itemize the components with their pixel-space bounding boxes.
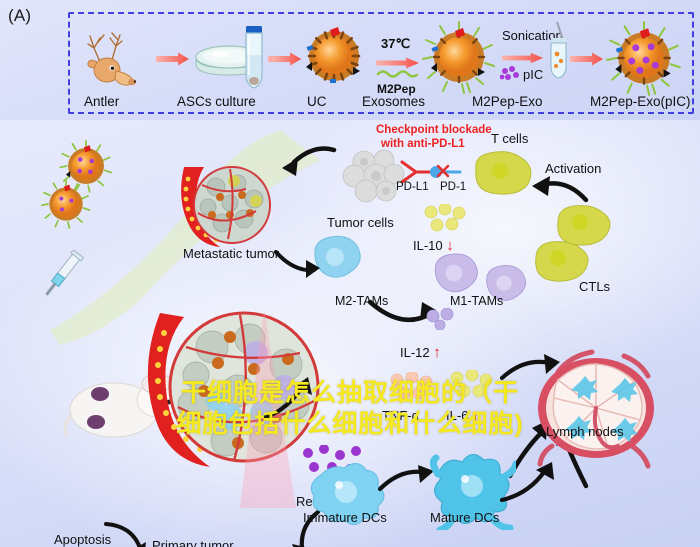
mature-dcs-label: Mature DCs [430,511,499,525]
tumor-cells-label: Tumor cells [327,216,394,230]
panel-a-letter: (A) [8,6,31,26]
m1-tams-label: M1-TAMs [450,295,503,309]
process-arrow-icon [570,52,604,66]
metastatic-tumor-label: Metastatic tumor [183,247,279,261]
step-label-ascs-culture: ASCs culture [177,95,256,110]
curved-arrow-icon [274,248,322,282]
panel-b: Metastatic tumor Tumor cells Checkpoint … [0,120,700,547]
cytokine-dots-icon [421,204,469,238]
step-label-uc: UC [307,95,327,110]
exosome-pic-icon [604,18,684,98]
step-label-antler: Antler [84,95,119,110]
process-arrow-icon [272,52,302,66]
pic-label: pIC [523,68,543,82]
curved-arrow-icon [276,142,338,182]
exosome-icon [300,22,368,90]
process-arrow-icon [502,52,544,64]
panel-a: 37℃ M2Pep Sonication [0,0,700,120]
pic-molecule-icon [500,66,520,82]
il-6-label: IL-6 [446,408,468,423]
il-12-group: IL-12 ↑ [400,345,441,362]
il-6-group: IL-6 ↑ [446,408,480,425]
process-arrow-icon [156,52,190,66]
exosome-pic-icon [40,178,92,230]
step-label-m2pep-exo-pic: M2Pep-Exo(pIC) [590,95,691,110]
figure-container: 37℃ M2Pep Sonication [0,0,700,547]
curved-arrow-icon [498,460,558,506]
lymph-nodes-icon [528,348,664,470]
cytokine-dots-icon [448,370,496,404]
step-label-exosomes: Exosomes [362,95,425,110]
pd-1-label: PD-1 [440,181,466,194]
curved-arrow-icon [104,520,152,547]
syringe-icon [40,250,88,306]
tnf-alpha-group: TNF-α ↑ [382,408,430,425]
checkpoint-blockade-line2: with anti-PD-L1 [381,138,465,151]
sonicator-tube-icon [546,20,572,82]
apoptosis-label: Apoptosis [54,533,111,547]
m2pep-peptide-icon [376,68,420,80]
activation-label: Activation [545,162,601,176]
deer-antler-icon [78,26,156,88]
il-12-trend-icon: ↑ [433,344,441,361]
t-cells-label: T cells [491,132,528,146]
primary-tumor-label: Primary tumor [152,539,234,547]
cytokine-dots-icon [424,308,458,330]
il-6-trend-icon: ↑ [472,407,480,424]
il-12-label: IL-12 [400,345,430,360]
ctl-cell-icon [528,238,592,284]
t-cell-icon [466,148,534,196]
metastatic-tumor-icon [172,155,282,251]
curved-arrow-icon [262,375,322,423]
m2-tam-cell-icon [428,248,480,300]
centrifuge-tube-icon [240,25,268,91]
exosome-peptide-icon [420,18,498,96]
ctls-label: CTLs [579,280,610,294]
immature-dcs-label: Immature DCs [303,511,387,525]
tnf-alpha-trend-icon: ↑ [423,407,431,424]
step-label-m2pep-exo: M2Pep-Exo [472,95,543,110]
lymph-nodes-label: Lymph nodes [546,425,624,439]
pd-l1-label: PD-L1 [396,181,429,194]
tnf-alpha-label: TNF-α [382,408,419,423]
temperature-label: 37℃ [381,37,410,51]
cytokine-dots-icon [388,372,436,406]
checkpoint-blockade-line1: Checkpoint blockade [376,124,492,137]
